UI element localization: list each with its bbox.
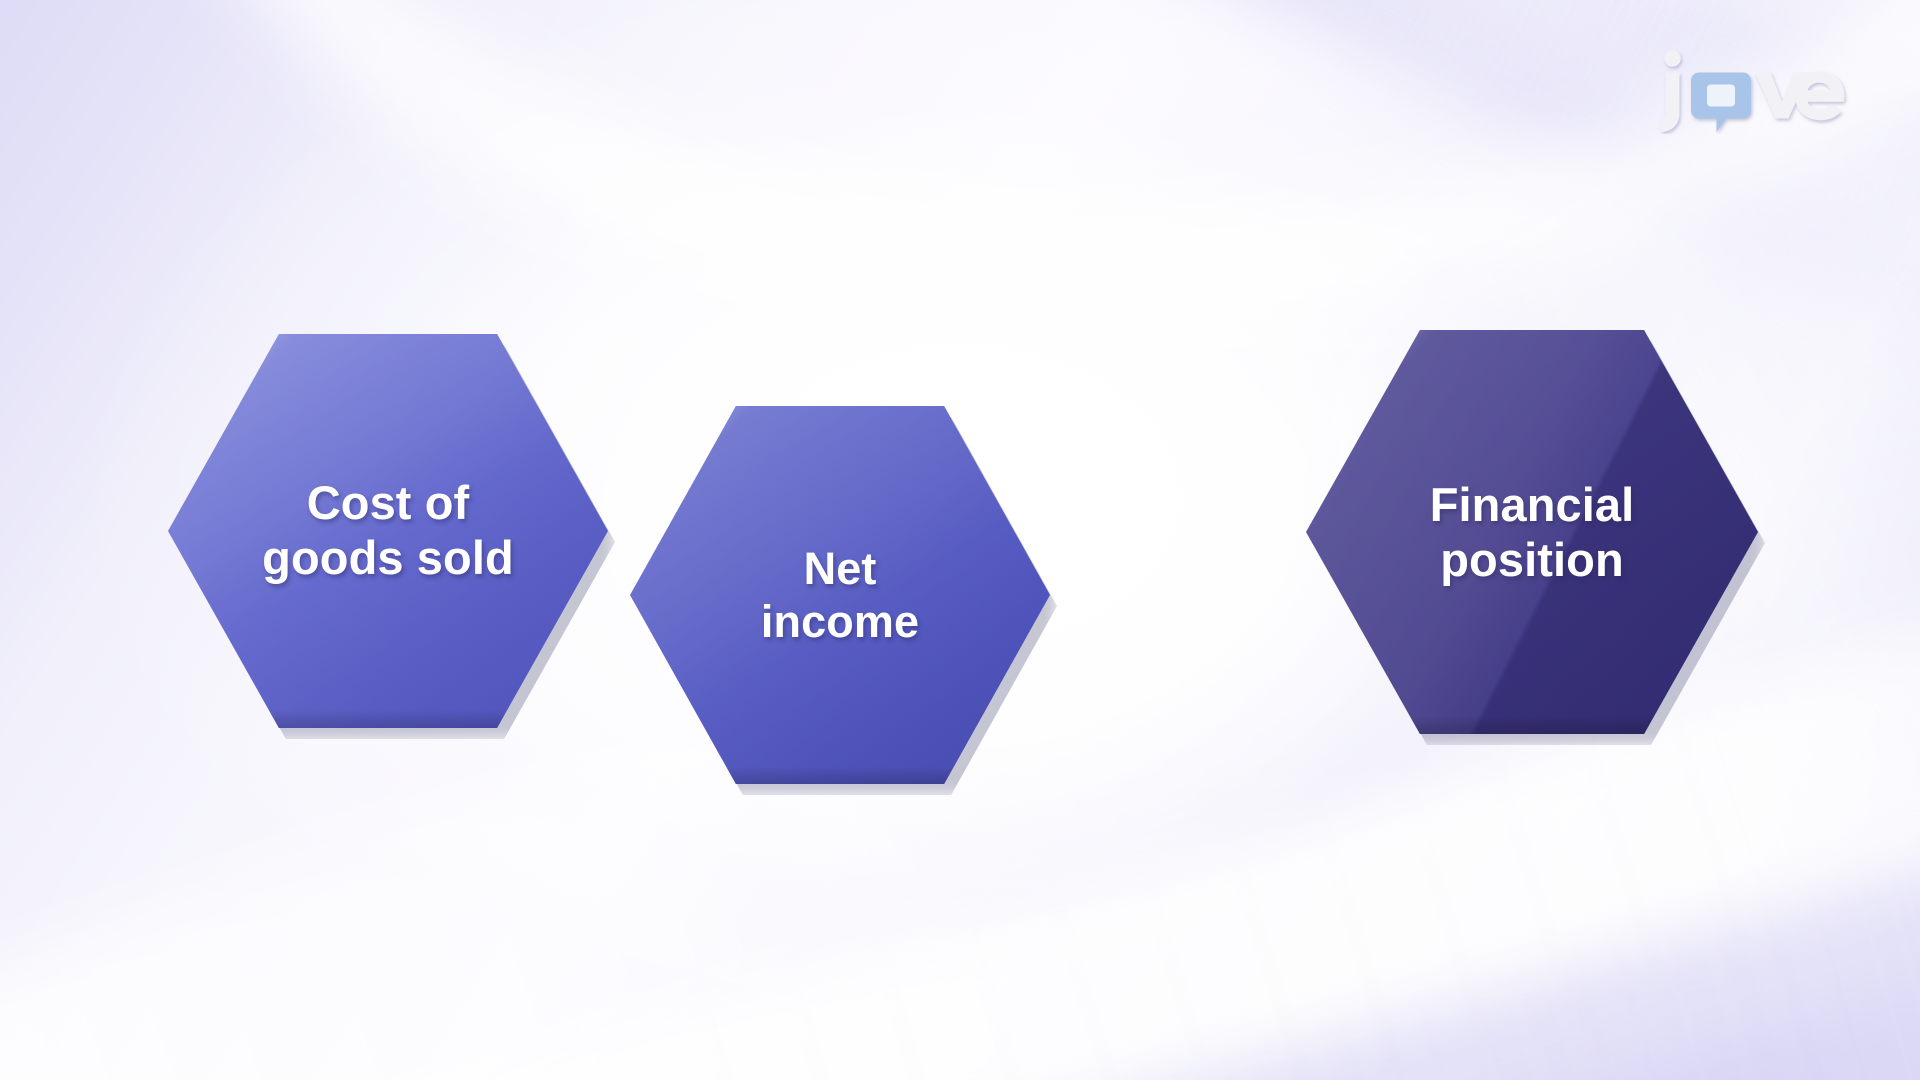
slide-canvas: Cost of goods sold Net income Financial … <box>0 0 1920 1080</box>
hexagon-financial-position: Financial position <box>1306 330 1758 734</box>
jove-logo-j-stem <box>1661 73 1680 133</box>
hexagon-net-income: Net income <box>630 406 1050 784</box>
hexagon-cost-of-goods-sold: Cost of goods sold <box>168 334 608 728</box>
jove-logo-j-dot <box>1664 50 1680 66</box>
jove-logo-o-counter <box>1707 85 1735 107</box>
jove-logo-e <box>1795 72 1844 121</box>
jove-logo <box>1655 42 1855 134</box>
